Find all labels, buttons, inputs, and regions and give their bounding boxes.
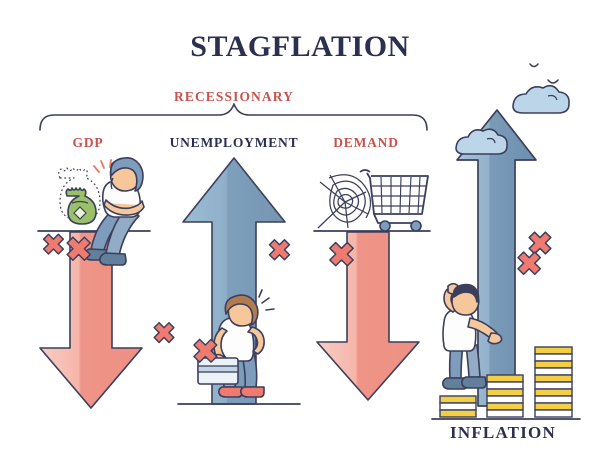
column-label-gdp: GDP <box>73 135 104 150</box>
panel-inflation: INFLATION <box>432 64 580 442</box>
column-label-unemployment: UNEMPLOYMENT <box>170 135 299 150</box>
cross-icon <box>44 234 64 254</box>
cross-icon <box>154 323 174 343</box>
cross-icon <box>270 240 290 260</box>
coin-stack-large <box>535 347 572 417</box>
gdp-cross-icons <box>44 234 91 260</box>
coin-stack-small <box>440 396 476 417</box>
stagflation-infographic: STAGFLATION RECESSIONARY GDP UNEMPLOYMEN… <box>0 0 600 450</box>
cross-icon <box>529 232 551 254</box>
column-label-demand: DEMAND <box>333 135 399 150</box>
inflation-label: INFLATION <box>450 423 556 442</box>
recessionary-subtitle: RECESSIONARY <box>174 89 294 104</box>
page-title: STAGFLATION <box>190 30 409 63</box>
cobweb-icon <box>318 175 371 228</box>
cross-icon <box>518 252 540 274</box>
coin-stack-medium <box>487 375 523 417</box>
money-bag-shrinking-icon <box>59 168 100 224</box>
infographic-canvas: STAGFLATION RECESSIONARY GDP UNEMPLOYMEN… <box>0 0 600 450</box>
unemployment-cross-icons <box>154 323 217 362</box>
cloud-icon-upper <box>513 86 569 113</box>
demand-cross-icons <box>270 240 354 266</box>
column-gdp <box>38 158 150 408</box>
column-demand <box>270 170 430 400</box>
recessionary-brace <box>40 104 427 130</box>
bird-icons <box>530 64 558 83</box>
column-unemployment <box>154 158 300 404</box>
inflation-cross-icons <box>518 232 551 274</box>
